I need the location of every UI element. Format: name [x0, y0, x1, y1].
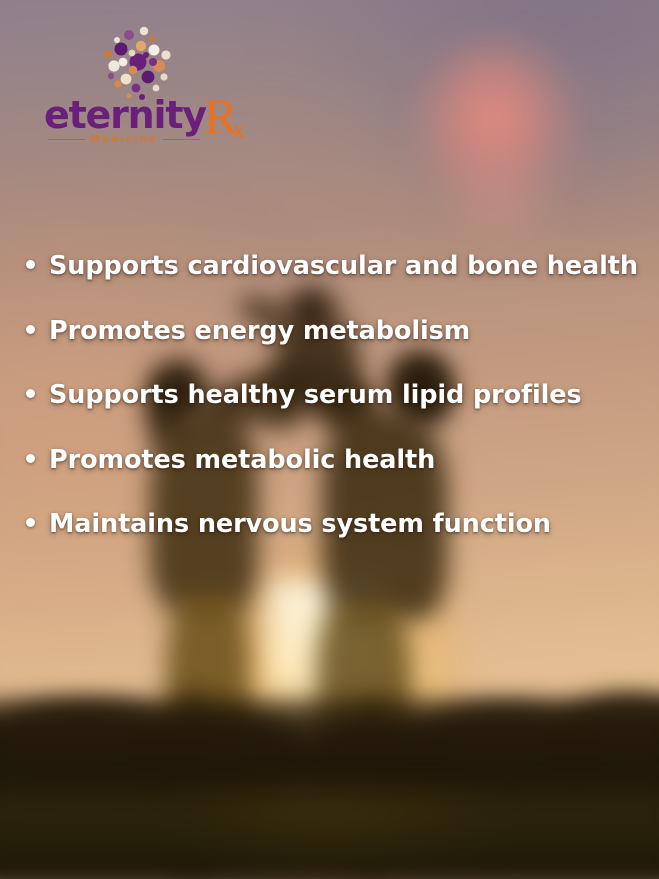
bullet-icon [26, 260, 35, 269]
logo-rx-icon: Rx [204, 96, 250, 137]
logo-wordmark: eternity Rx [44, 96, 250, 137]
list-item: Maintains nervous system function [26, 510, 638, 539]
list-item: Promotes energy metabolism [26, 317, 638, 346]
bullet-icon [26, 389, 35, 398]
bullet-icon [26, 518, 35, 527]
product-benefits-slide: eternity Rx Medicine Supports cardiovasc… [0, 0, 659, 879]
benefits-list: Supports cardiovascular and bone health … [26, 252, 638, 539]
bullet-icon [26, 454, 35, 463]
logo-rx-subscript: x [232, 115, 245, 144]
logo-name-text: eternity [44, 96, 206, 134]
benefit-label: Supports healthy serum lipid profiles [49, 381, 582, 410]
benefit-label: Promotes metabolic health [49, 446, 435, 475]
benefit-label: Promotes energy metabolism [49, 317, 470, 346]
brand-logo[interactable]: eternity Rx Medicine [44, 22, 234, 142]
foreground-field [0, 790, 659, 879]
logo-tagline: Medicine [90, 134, 157, 145]
benefit-label: Maintains nervous system function [49, 510, 551, 539]
tagline-rule-left [48, 139, 85, 141]
list-item: Supports healthy serum lipid profiles [26, 381, 638, 410]
logo-tagline-group: Medicine [48, 134, 200, 145]
tagline-rule-right [163, 139, 200, 141]
list-item: Supports cardiovascular and bone health [26, 252, 638, 281]
logo-burst-icon [96, 22, 180, 104]
bullet-icon [26, 325, 35, 334]
list-item: Promotes metabolic health [26, 446, 638, 475]
benefit-label: Supports cardiovascular and bone health [49, 252, 638, 281]
